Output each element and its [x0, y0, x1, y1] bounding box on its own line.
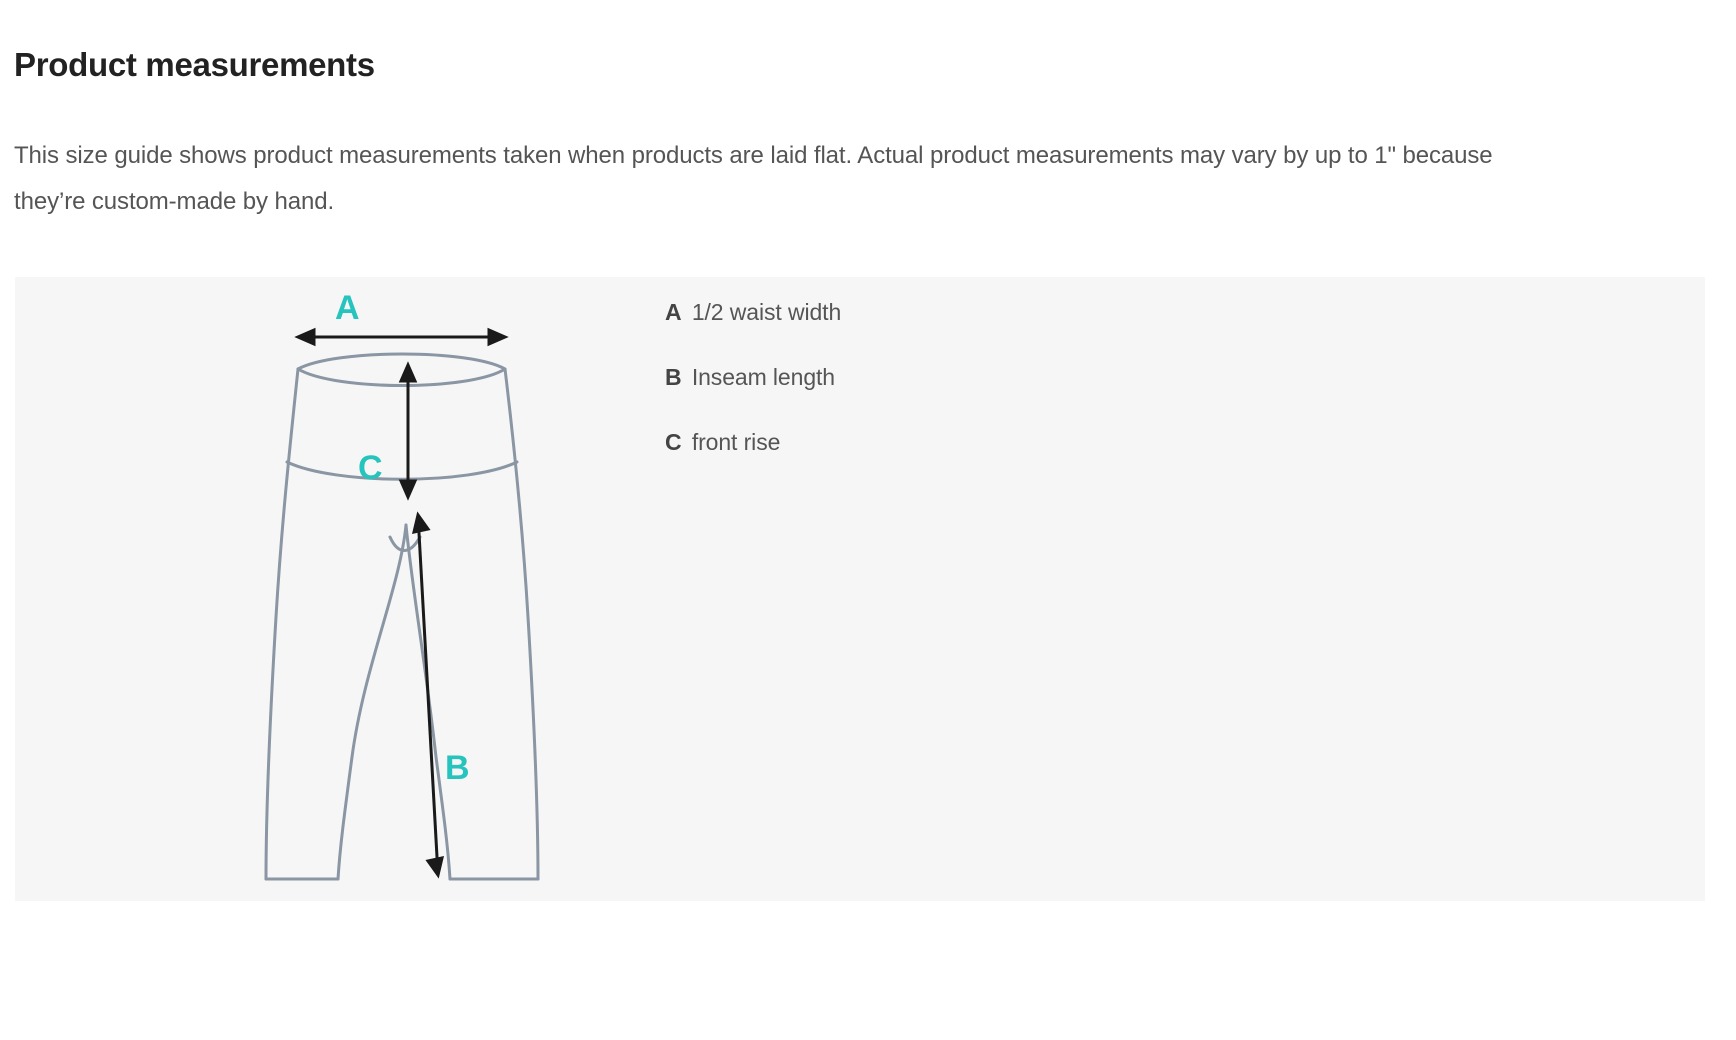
measure-arrow-a [298, 330, 505, 344]
leggings-diagram: A C B [240, 287, 660, 887]
legend-item-b: B Inseam length [665, 362, 1265, 392]
measure-arrow-b [414, 515, 442, 875]
label-b: B [445, 749, 470, 787]
label-a: A [335, 289, 360, 327]
legend-key-a: A [665, 299, 682, 325]
legend-key-c: C [665, 429, 682, 455]
leggings-diagram-svg: A C B [240, 287, 660, 887]
size-guide-page: Product measurements This size guide sho… [0, 0, 1736, 1040]
label-c: C [358, 449, 383, 487]
legend-item-a: A 1/2 waist width [665, 297, 1265, 327]
legend-item-c: C front rise [665, 427, 1265, 457]
leggings-outline-icon [266, 354, 538, 879]
intro-paragraph: This size guide shows product measuremen… [14, 133, 1536, 225]
legend-label-c: front rise [692, 429, 780, 455]
legend-key-b: B [665, 364, 682, 390]
page-title: Product measurements [14, 44, 375, 86]
legend-label-b: Inseam length [692, 364, 835, 390]
measurement-legend: A 1/2 waist width B Inseam length C fron… [665, 297, 1265, 492]
legend-label-a: 1/2 waist width [692, 299, 841, 325]
measurement-panel: A C B A 1/2 waist w [15, 277, 1705, 901]
